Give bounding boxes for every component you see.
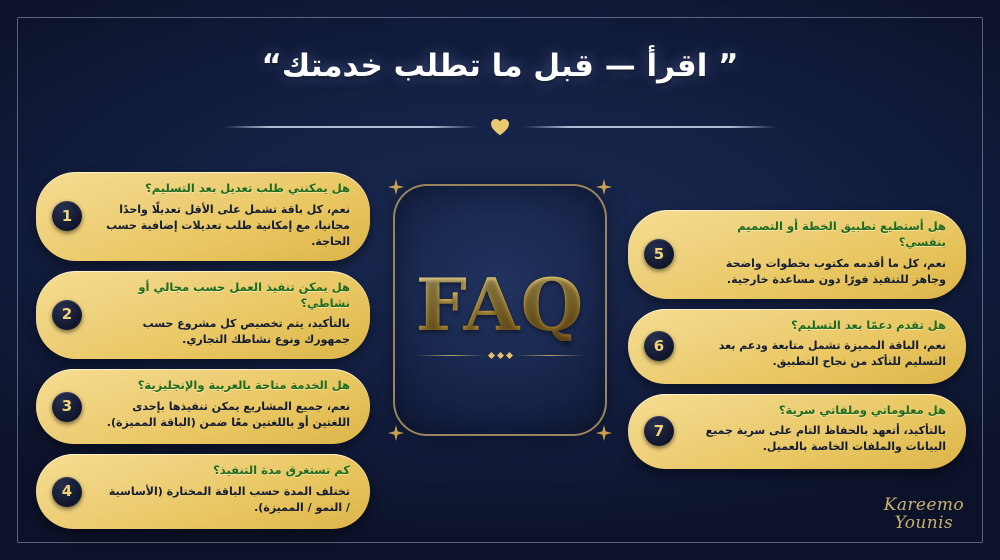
faq-card[interactable]: 4 كم تستغرق مدة التنفيذ؟ تختلف المدة حسب… (36, 454, 370, 529)
signature-line-2: Younis (884, 515, 964, 532)
diamond-dot-icon (496, 351, 503, 358)
emblem-divider-line (516, 355, 585, 356)
card-answer: بالتأكيد، أتعهد بالحفاظ التام على سرية ج… (698, 423, 946, 455)
faq-column-left: 1 هل يمكنني طلب تعديل بعد التسليم؟ نعم، … (36, 172, 370, 529)
card-number-badge: 4 (52, 477, 82, 507)
card-answer: بالتأكيد، يتم تخصيص كل مشروع حسب جمهورك … (106, 316, 350, 348)
card-number-badge: 5 (644, 239, 674, 269)
faq-emblem: FAQ (393, 184, 607, 436)
card-answer: نعم، كل ما أقدمه مكتوب بخطوات واضحة وجاه… (698, 256, 946, 288)
faq-card[interactable]: 1 هل يمكنني طلب تعديل بعد التسليم؟ نعم، … (36, 172, 370, 261)
four-point-star-icon (388, 179, 404, 195)
title-divider (0, 118, 1000, 136)
four-point-star-icon (596, 425, 612, 441)
faq-card[interactable]: 2 هل يمكن تنفيذ العمل حسب مجالي أو نشاطي… (36, 271, 370, 360)
brand-signature: Kareemo Younis (884, 497, 964, 532)
faq-card[interactable]: 3 هل الخدمة متاحة بالعربية والإنجليزية؟ … (36, 369, 370, 444)
card-question: هل الخدمة متاحة بالعربية والإنجليزية؟ (106, 378, 350, 394)
faq-column-right: 5 هل أستطيع تطبيق الخطة أو التصميم بنفسي… (628, 210, 966, 469)
signature-line-1: Kareemo (884, 497, 964, 514)
divider-rule-left (224, 126, 476, 128)
emblem-divider-line (416, 355, 485, 356)
card-question: هل يمكن تنفيذ العمل حسب مجالي أو نشاطي؟ (106, 280, 350, 312)
card-number-badge: 3 (52, 392, 82, 422)
diamond-dot-icon (505, 351, 512, 358)
faq-card[interactable]: 5 هل أستطيع تطبيق الخطة أو التصميم بنفسي… (628, 210, 966, 299)
card-number-badge: 7 (644, 416, 674, 446)
divider-rule-right (524, 126, 776, 128)
card-number-badge: 2 (52, 300, 82, 330)
card-answer: نعم، جميع المشاريع يمكن تنفيذها بإحدى ال… (106, 399, 350, 431)
page-title: ” اقرأ — قبل ما تطلب خدمتك“ (0, 48, 1000, 84)
faq-wordmark: FAQ (416, 269, 584, 341)
four-point-star-icon (388, 425, 404, 441)
diamond-dot-icon (487, 351, 494, 358)
faq-poster: ” اقرأ — قبل ما تطلب خدمتك“ 1 هل يمكنني … (0, 0, 1000, 560)
four-point-star-icon (596, 179, 612, 195)
emblem-divider (416, 353, 584, 358)
faq-card[interactable]: 7 هل معلوماتي وملفاتي سرية؟ بالتأكيد، أت… (628, 394, 966, 469)
card-question: هل أستطيع تطبيق الخطة أو التصميم بنفسي؟ (698, 219, 946, 251)
card-number-badge: 6 (644, 331, 674, 361)
card-number-badge: 1 (52, 201, 82, 231)
card-question: كم تستغرق مدة التنفيذ؟ (106, 463, 350, 479)
card-question: هل يمكنني طلب تعديل بعد التسليم؟ (106, 181, 350, 197)
card-answer: تختلف المدة حسب الباقة المختارة (الأساسي… (106, 484, 350, 516)
card-answer: نعم، الباقة المميزة تشمل متابعة ودعم بعد… (698, 338, 946, 370)
card-question: هل معلوماتي وملفاتي سرية؟ (698, 403, 946, 419)
faq-card[interactable]: 6 هل تقدم دعمًا بعد التسليم؟ نعم، الباقة… (628, 309, 966, 384)
card-question: هل تقدم دعمًا بعد التسليم؟ (698, 318, 946, 334)
card-answer: نعم، كل باقة تشمل على الأقل تعديلًا واحد… (106, 202, 350, 250)
heart-icon (490, 118, 510, 136)
